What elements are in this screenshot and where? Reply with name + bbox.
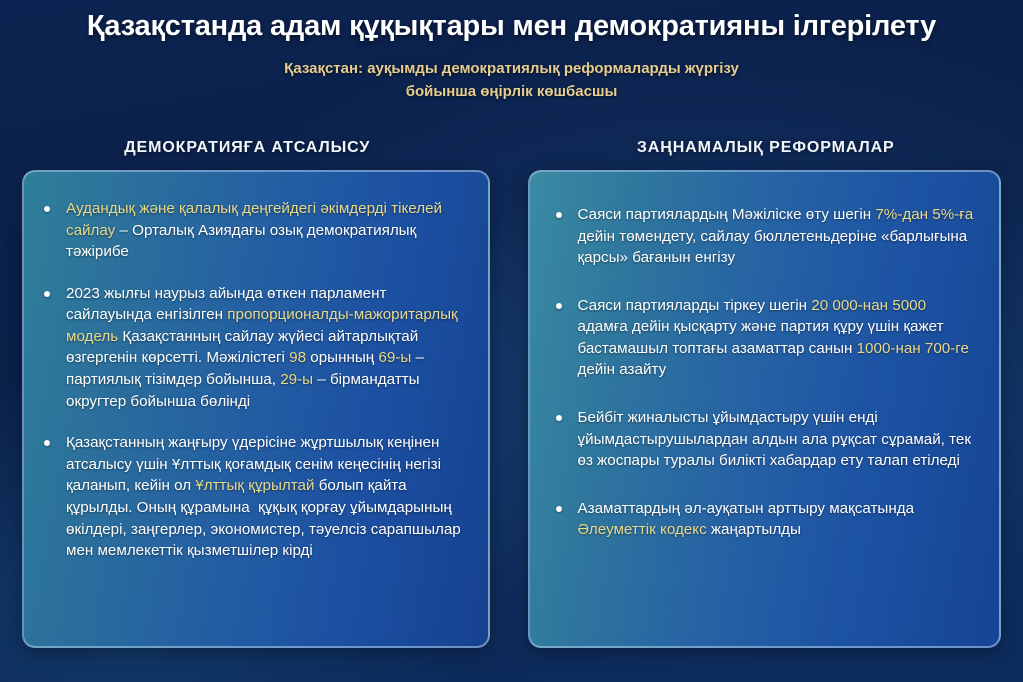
highlighted-text: 98	[289, 349, 306, 366]
column-header-legislative: ЗАҢНАМАЛЫҚ РЕФОРМАЛАР	[509, 139, 1023, 157]
list-item: Аудандық және қалалық деңгейдегі әкімдер…	[40, 198, 468, 263]
body-text: Саяси партияларды тіркеу шегін	[578, 297, 812, 314]
body-text: Саяси партиялардың Мәжіліске өту шегін	[578, 206, 876, 223]
page-title: Қазақстанда адам құқықтары мен демократи…	[0, 10, 1023, 43]
highlighted-text: 69-ы	[378, 349, 411, 366]
body-text: – Орталық Азиядағы озық демократиялық тә…	[66, 222, 420, 261]
body-text: Азаматтардың әл-ауқатын арттыру мақсатын…	[578, 500, 919, 517]
column-header-democracy: ДЕМОКРАТИЯҒА АТСАЛЫСУ	[0, 139, 505, 157]
card-democracy: Аудандық және қалалық деңгейдегі әкімдер…	[22, 170, 490, 648]
page-subtitle: Қазақстан: ауқымды демократиялық реформа…	[0, 57, 1023, 104]
highlighted-text: Ұлттық құрылтай	[195, 477, 314, 494]
body-text: Бейбіт жиналысты ұйымдастыру үшін енді ұ…	[578, 409, 976, 469]
cards-container: Аудандық және қалалық деңгейдегі әкімдер…	[22, 170, 1001, 648]
list-item: Саяси партиялардың Мәжіліске өту шегін 7…	[552, 204, 980, 269]
highlighted-text: 29-ы	[280, 371, 313, 388]
highlighted-text: 1000-нан 700-ге	[857, 340, 969, 357]
highlighted-text: Әлеуметтік кодекс	[578, 521, 707, 538]
list-item: 2023 жылғы наурыз айында өткен парламент…	[40, 283, 468, 412]
bullet-list-democracy: Аудандық және қалалық деңгейдегі әкімдер…	[40, 198, 468, 562]
column-headers: ДЕМОКРАТИЯҒА АТСАЛЫСУ ЗАҢНАМАЛЫҚ РЕФОРМА…	[0, 139, 1023, 157]
list-item: Саяси партияларды тіркеу шегін 20 000-на…	[552, 295, 980, 381]
highlighted-text: 20 000-нан 5000	[811, 297, 926, 314]
highlighted-text: 7%-дан 5%-ға	[875, 206, 973, 223]
subtitle-line-1: Қазақстан: ауқымды демократиялық реформа…	[0, 57, 1023, 80]
list-item: Бейбіт жиналысты ұйымдастыру үшін енді ұ…	[552, 407, 980, 472]
list-item: Қазақстанның жаңғыру үдерісіне жұртшылық…	[40, 432, 468, 561]
subtitle-line-2: бойынша өңірлік көшбасшы	[0, 80, 1023, 103]
list-item: Азаматтардың әл-ауқатын арттыру мақсатын…	[552, 498, 980, 541]
bullet-list-legislative: Саяси партиялардың Мәжіліске өту шегін 7…	[552, 204, 980, 541]
slide-header: Қазақстанда адам құқықтары мен демократи…	[0, 0, 1023, 104]
slide-root: Қазақстанда адам құқықтары мен демократи…	[0, 0, 1023, 682]
card-legislative: Саяси партиялардың Мәжіліске өту шегін 7…	[528, 170, 1002, 648]
body-text: жаңартылды	[707, 521, 801, 538]
body-text: орынның	[306, 349, 378, 366]
